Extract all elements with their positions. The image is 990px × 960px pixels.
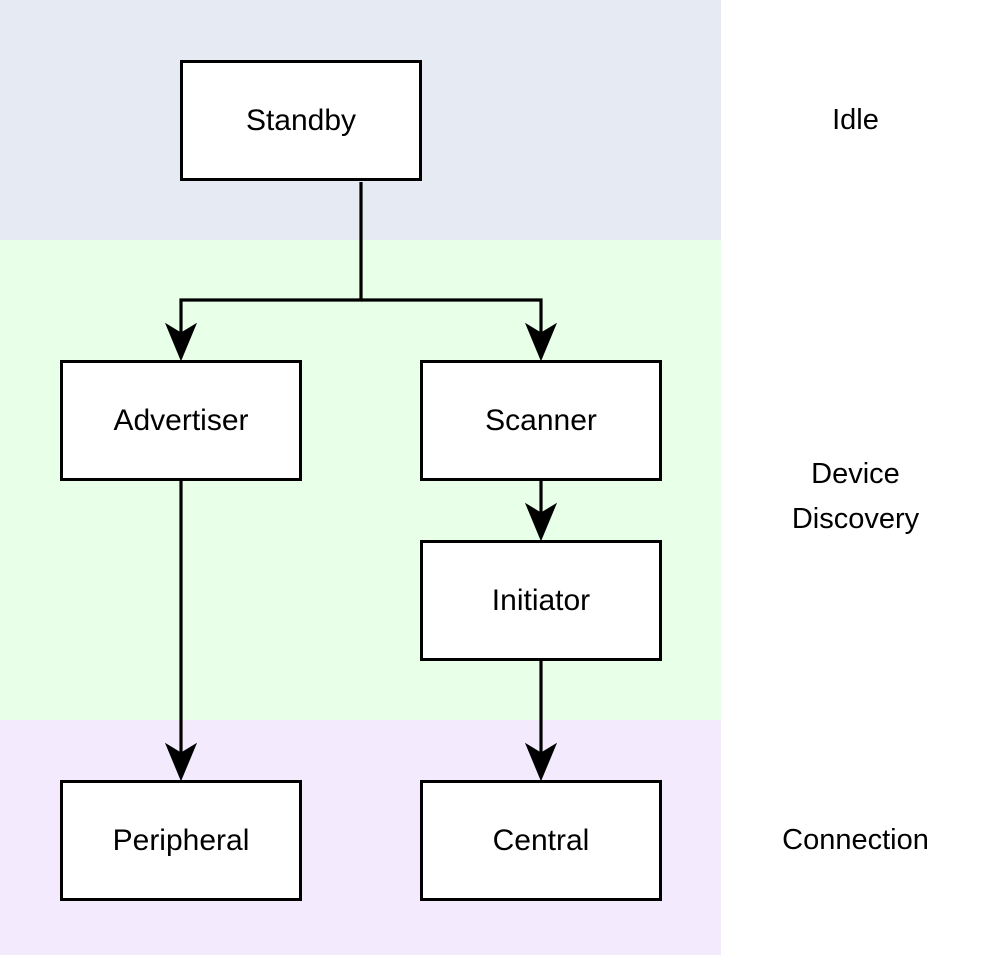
- node-standby[interactable]: Standby: [180, 60, 422, 181]
- band-label-idle: Idle: [731, 98, 980, 143]
- node-peripheral-label: Peripheral: [113, 826, 250, 856]
- band-label-connection: Connection: [731, 818, 980, 863]
- node-peripheral[interactable]: Peripheral: [60, 780, 302, 901]
- node-central[interactable]: Central: [420, 780, 662, 901]
- node-scanner[interactable]: Scanner: [420, 360, 662, 481]
- node-advertiser-label: Advertiser: [113, 406, 248, 436]
- node-standby-label: Standby: [246, 106, 356, 136]
- node-scanner-label: Scanner: [485, 406, 597, 436]
- node-central-label: Central: [493, 826, 590, 856]
- node-initiator-label: Initiator: [492, 586, 590, 616]
- node-initiator[interactable]: Initiator: [420, 540, 662, 661]
- node-advertiser[interactable]: Advertiser: [60, 360, 302, 481]
- diagram-canvas: Standby Advertiser Scanner Initiator Per…: [0, 0, 990, 960]
- band-label-device-discovery: Device Discovery: [731, 452, 980, 542]
